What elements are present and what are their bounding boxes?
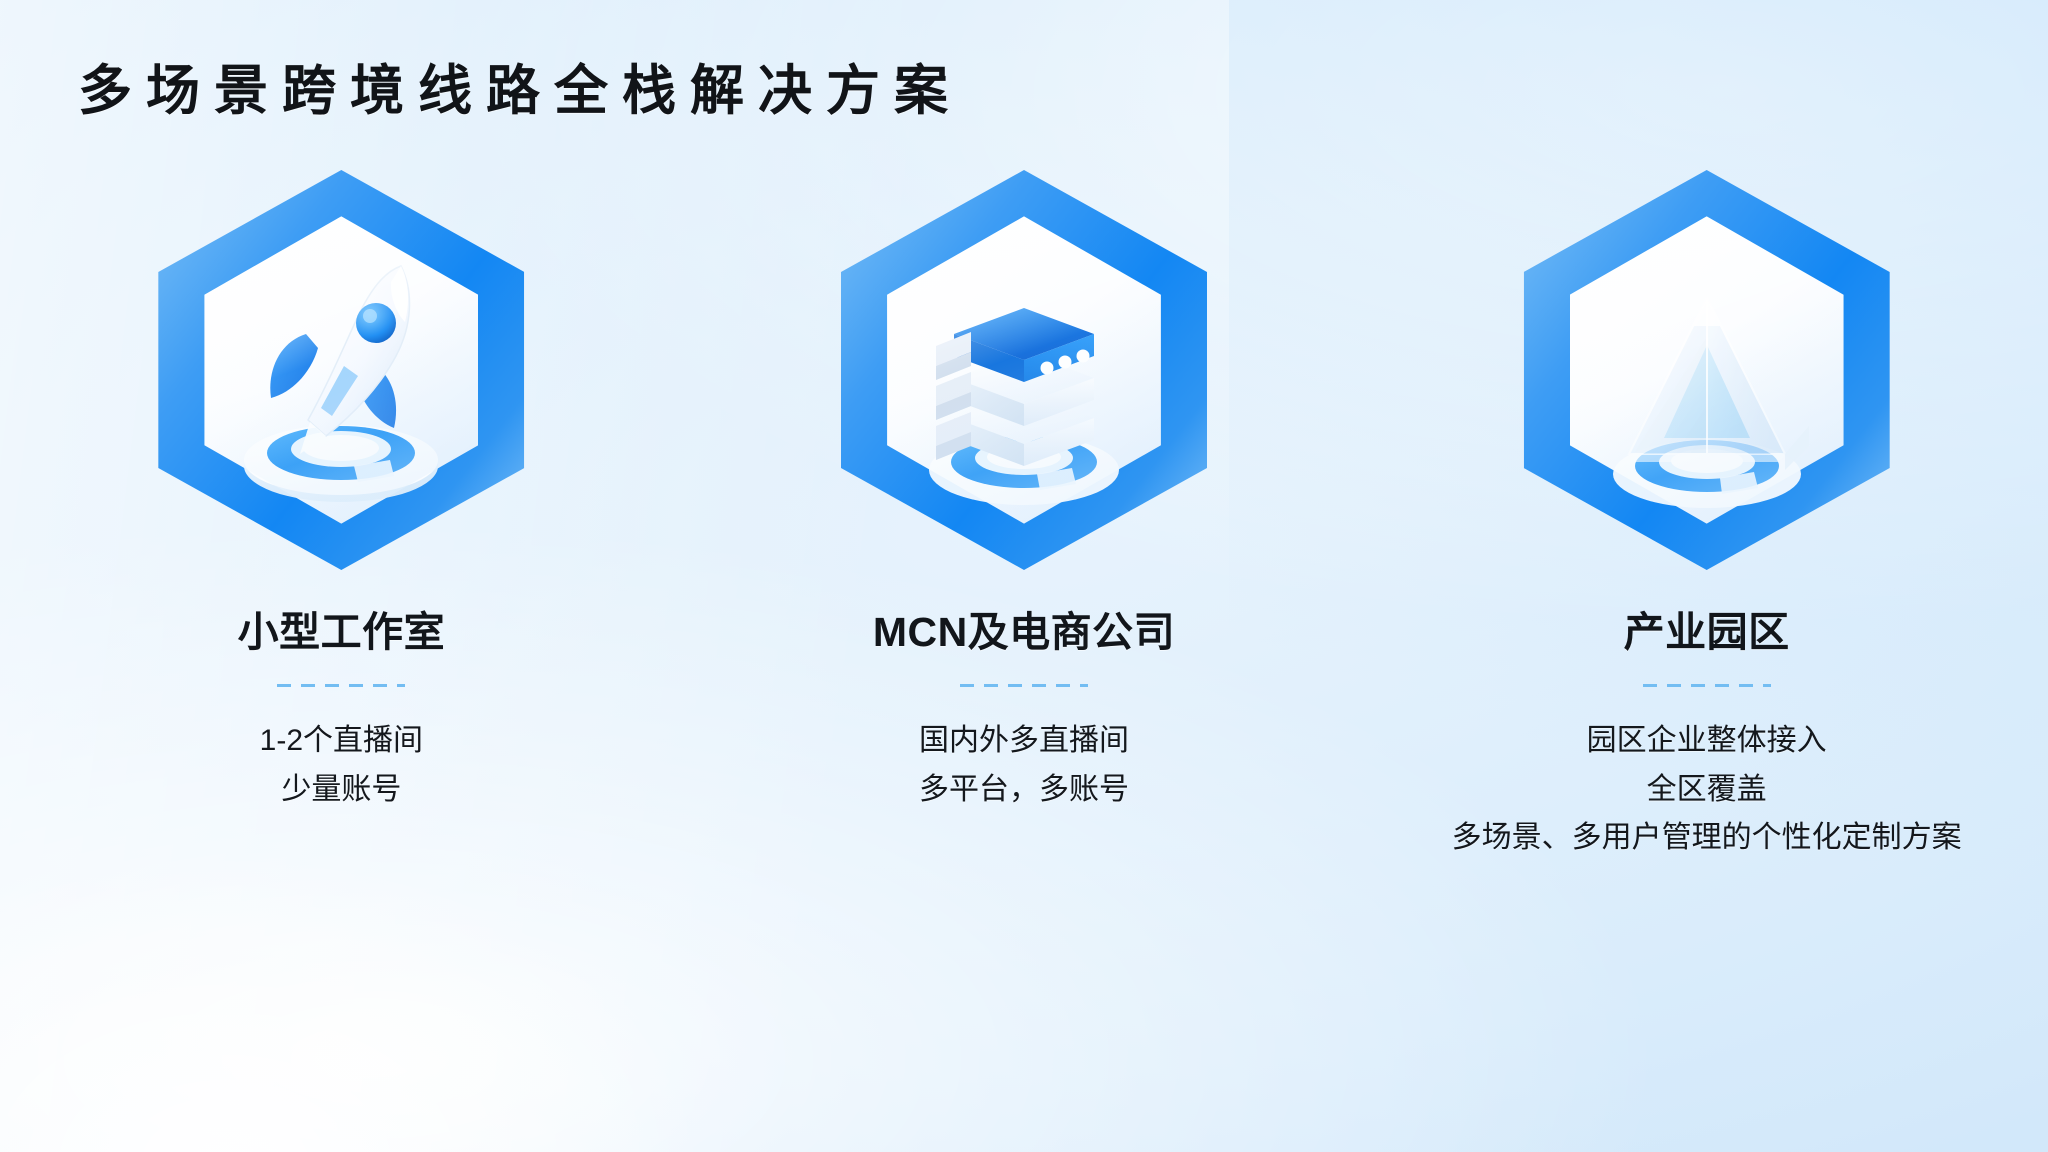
slide-root: 多场景跨境线路全栈解决方案 <box>0 0 2048 1152</box>
card-line: 多平台，多账号 <box>919 766 1129 815</box>
card-line: 园区企业整体接入 <box>1452 717 1962 766</box>
card-line: 多场景、多用户管理的个性化定制方案 <box>1452 814 1962 863</box>
card-heading: 产业园区 <box>1624 598 1790 658</box>
page-title: 多场景跨境线路全栈解决方案 <box>78 60 962 122</box>
card-divider <box>277 684 405 687</box>
scenario-card-row: 小型工作室 1-2个直播间 少量账号 <box>0 170 2048 863</box>
card-description: 国内外多直播间 多平台，多账号 <box>919 717 1129 814</box>
card-line: 1-2个直播间 <box>260 717 423 766</box>
server-stack-illustration <box>841 170 1207 570</box>
pyramid-illustration <box>1524 170 1890 570</box>
pyramid-hexagon-icon <box>1524 170 1890 570</box>
scenario-card-industrial-park[interactable]: 产业园区 园区企业整体接入 全区覆盖 多场景、多用户管理的个性化定制方案 <box>1365 170 2048 863</box>
server-stack-hexagon-icon <box>841 170 1207 570</box>
scenario-card-small-studio[interactable]: 小型工作室 1-2个直播间 少量账号 <box>0 170 683 814</box>
card-description: 园区企业整体接入 全区覆盖 多场景、多用户管理的个性化定制方案 <box>1452 717 1962 863</box>
rocket-illustration <box>158 170 524 570</box>
card-divider <box>960 684 1088 687</box>
card-line: 国内外多直播间 <box>919 717 1129 766</box>
scenario-card-mcn-ecommerce[interactable]: MCN及电商公司 国内外多直播间 多平台，多账号 <box>683 170 1366 814</box>
card-line: 少量账号 <box>260 766 423 815</box>
card-heading: 小型工作室 <box>238 598 446 658</box>
rocket-hexagon-icon <box>158 170 524 570</box>
card-heading: MCN及电商公司 <box>873 598 1175 658</box>
card-line: 全区覆盖 <box>1452 766 1962 815</box>
card-description: 1-2个直播间 少量账号 <box>260 717 423 814</box>
card-divider <box>1643 684 1771 687</box>
